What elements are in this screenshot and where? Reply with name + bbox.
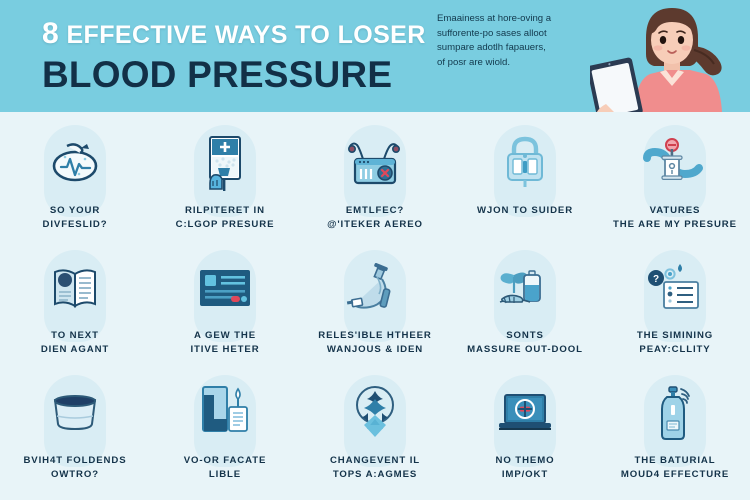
tips-grid: SO YOUR DIVFESLID? xyxy=(0,112,750,500)
tip-item-6[interactable]: TO NEXT DIEN AGANT xyxy=(0,250,150,375)
tip-item-1[interactable]: SO YOUR DIVFESLID? xyxy=(0,125,150,250)
tip-caption: EMTLFEC? @'ITEKER AEREO xyxy=(295,204,455,232)
header-paragraph: Emaainess at hore-oving a sufforente-po … xyxy=(437,12,587,70)
tip-caption: THE SIMINING PEAY:CLLITY xyxy=(595,329,750,357)
bowl-icon xyxy=(38,383,112,443)
tip-caption-line-1: RILPITERET IN xyxy=(185,205,265,216)
tip-caption-line-2: MASSURE OUT-DOOL xyxy=(445,343,605,357)
title-line-2: BLOOD PRESSURE xyxy=(42,55,442,96)
header-paragraph-line-1: Emaainess at hore-oving a xyxy=(437,12,587,27)
tip-caption-line-1: RELES'IBLE HTHEER xyxy=(318,330,432,341)
bottle-candle-icon xyxy=(188,383,262,443)
tip-caption: RILPITERET IN C:LGOP PRESURE xyxy=(145,204,305,232)
tip-item-9[interactable]: SONTS MASSURE OUT-DOOL xyxy=(450,250,600,375)
tip-caption: RELES'IBLE HTHEER WANJOUS & IDEN xyxy=(295,329,455,357)
bottle-plant-icon xyxy=(488,258,562,318)
tip-item-12[interactable]: VO-OR FACATE LIBLE xyxy=(150,375,300,500)
spray-bottle-icon xyxy=(638,383,712,443)
tip-caption-line-2: ITIVE HETER xyxy=(145,343,305,357)
tip-caption-line-1: NO THEMO xyxy=(496,455,555,466)
tip-item-13[interactable]: CHANGEVENT IL TOPS A:AGMES xyxy=(300,375,450,500)
tip-caption-line-1: A GEW THE xyxy=(194,330,256,341)
tip-item-5[interactable]: VATURES THE ARE MY PRESURE xyxy=(600,125,750,250)
tip-caption-line-2: DIEN AGANT xyxy=(0,343,155,357)
tip-caption-line-1: EMTLFEC? xyxy=(346,205,404,216)
title-line-1: 8 EFFECTIVE WAYS TO LOSER xyxy=(42,18,442,50)
tip-caption-line-1: WJON TO SUIDER xyxy=(477,205,573,216)
tip-caption: NO THEMO IMP/OKT xyxy=(445,454,605,482)
tip-caption: THE BATURIAL MOUD4 EFFECTURE xyxy=(595,454,750,482)
tip-caption: TO NEXT DIEN AGANT xyxy=(0,329,155,357)
tip-caption-line-2: C:LGOP PRESURE xyxy=(145,218,305,232)
tip-caption-line-2: WANJOUS & IDEN xyxy=(295,343,455,357)
header-paragraph-line-2: sufforente-po sases alloot xyxy=(437,27,587,42)
tip-caption: WJON TO SUIDER xyxy=(445,204,605,218)
tip-caption-line-1: CHANGEVENT IL xyxy=(330,455,420,466)
header-paragraph-line-4: of posr are wiold. xyxy=(437,56,587,71)
tip-item-10[interactable]: ? THE SIMINING PEAY:CLLITY xyxy=(600,250,750,375)
woman-holding-tablet-illustration xyxy=(590,0,750,112)
laptop-icon xyxy=(488,383,562,443)
tip-caption-line-2: TOPS A:AGMES xyxy=(295,468,455,482)
tip-caption-line-1: BVIH4T FOLDENDS xyxy=(23,455,126,466)
header-banner: 8 EFFECTIVE WAYS TO LOSER BLOOD PRESSURE… xyxy=(0,0,750,112)
tip-caption-line-2: DIVFESLID? xyxy=(0,218,155,232)
tip-item-3[interactable]: EMTLFEC? @'ITEKER AEREO xyxy=(300,125,450,250)
lock-bag-icon xyxy=(488,133,562,193)
tip-item-11[interactable]: BVIH4T FOLDENDS OWTRO? xyxy=(0,375,150,500)
syringe-icon xyxy=(338,258,412,318)
tip-item-15[interactable]: THE BATURIAL MOUD4 EFFECTURE xyxy=(600,375,750,500)
title-line-1-text: EFFECTIVE WAYS TO LOSER xyxy=(66,21,425,49)
heart-ecg-monitor-icon xyxy=(38,133,112,193)
tip-caption-line-2: @'ITEKER AEREO xyxy=(295,218,455,232)
question-list-card-icon: ? xyxy=(638,258,712,318)
open-book-icon xyxy=(38,258,112,318)
tip-caption: VATURES THE ARE MY PRESURE xyxy=(595,204,750,232)
tip-item-14[interactable]: NO THEMO IMP/OKT xyxy=(450,375,600,500)
tip-caption-line-1: VATURES xyxy=(650,205,701,216)
header-title-group: 8 EFFECTIVE WAYS TO LOSER BLOOD PRESSURE xyxy=(42,18,442,95)
tip-caption: BVIH4T FOLDENDS OWTRO? xyxy=(0,454,155,482)
tip-caption-line-2: PEAY:CLLITY xyxy=(595,343,750,357)
dark-card-icon xyxy=(188,258,262,318)
tip-item-2[interactable]: RILPITERET IN C:LGOP PRESURE xyxy=(150,125,300,250)
tip-caption-line-1: SONTS xyxy=(506,330,544,341)
tip-caption: SO YOUR DIVFESLID? xyxy=(0,204,155,232)
blood-pressure-monitor-icon xyxy=(338,133,412,193)
tip-caption-line-2: LIBLE xyxy=(145,468,305,482)
header-paragraph-line-3: sumpare adotlh fapauers, xyxy=(437,41,587,56)
tip-caption-line-2: MOUD4 EFFECTURE xyxy=(595,468,750,482)
tip-item-4[interactable]: WJON TO SUIDER xyxy=(450,125,600,250)
tip-item-7[interactable]: A GEW THE ITIVE HETER xyxy=(150,250,300,375)
title-number: 8 xyxy=(42,17,59,50)
tip-caption: SONTS MASSURE OUT-DOOL xyxy=(445,329,605,357)
tip-caption-line-2: THE ARE MY PRESURE xyxy=(595,218,750,232)
medical-sign-hand-icon xyxy=(188,133,262,193)
cuff-tube-gauge-icon xyxy=(638,133,712,193)
tip-caption-line-1: THE BATURIAL xyxy=(635,455,716,466)
tip-caption-line-2: IMP/OKT xyxy=(445,468,605,482)
tip-caption-line-1: THE SIMINING xyxy=(637,330,713,341)
tip-item-8[interactable]: RELES'IBLE HTHEER WANJOUS & IDEN xyxy=(300,250,450,375)
tip-caption: VO-OR FACATE LIBLE xyxy=(145,454,305,482)
tip-caption-line-1: VO-OR FACATE xyxy=(184,455,267,466)
tip-caption-line-2: OWTRO? xyxy=(0,468,155,482)
tip-caption-line-1: SO YOUR xyxy=(50,205,100,216)
tree-caduceus-icon xyxy=(338,383,412,443)
tip-caption: CHANGEVENT IL TOPS A:AGMES xyxy=(295,454,455,482)
tip-caption: A GEW THE ITIVE HETER xyxy=(145,329,305,357)
svg-text:?: ? xyxy=(653,274,659,285)
tip-caption-line-1: TO NEXT xyxy=(51,330,99,341)
